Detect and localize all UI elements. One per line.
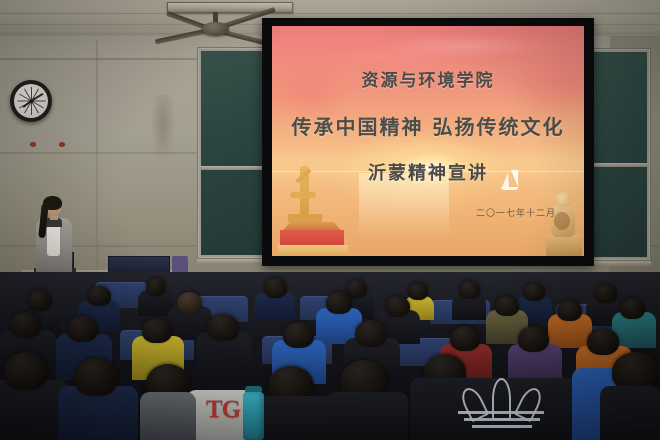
clock-face (14, 84, 48, 118)
audience-body (140, 392, 196, 440)
slide-sun-reflection (359, 173, 449, 256)
audience-head (10, 312, 41, 338)
audience-head (385, 296, 410, 317)
audience-head (495, 296, 519, 316)
audience-head (4, 352, 48, 390)
audience-head (146, 278, 166, 296)
audience-head (408, 283, 428, 300)
chalkboard-right (589, 48, 651, 261)
audience-body (326, 392, 408, 440)
chalkboard-left (197, 47, 269, 259)
audience-body (600, 386, 660, 440)
clock-center-pin (30, 100, 33, 103)
wall-fixture (30, 142, 36, 147)
audience-head (450, 326, 480, 351)
audience-head (67, 316, 98, 342)
audience-body (256, 396, 334, 440)
chalkboard-divider (201, 166, 265, 170)
chalkboard-divider (593, 163, 647, 167)
ceiling-fan-icon (202, 22, 229, 36)
audience-head (177, 292, 202, 313)
wall-stain (150, 95, 176, 165)
chalkboard-surface (593, 52, 647, 257)
audience-head (620, 298, 645, 319)
monument-icon (278, 166, 354, 256)
audience-head (587, 328, 619, 355)
audience-head (74, 358, 118, 396)
audience-head (459, 281, 480, 299)
wall-clock (10, 80, 52, 122)
wall-seam (96, 40, 98, 270)
wall-seam (0, 58, 200, 60)
adidas-trefoil-icon (452, 372, 558, 434)
audience-head (523, 283, 545, 301)
water-bottle (243, 392, 264, 440)
audience-head (518, 326, 549, 352)
ceiling-rib (0, 13, 660, 14)
projection-screen-frame: 资源与环境学院 传承中国精神 弘扬传统文化 沂蒙精神宣讲 二〇一七年十二月 (262, 18, 594, 266)
presenter (30, 198, 76, 278)
audience-head (27, 290, 52, 311)
wall-fixture (59, 142, 65, 147)
stone-lion-icon (542, 190, 584, 256)
audience-head (142, 318, 172, 343)
presenter-shirt (47, 224, 60, 256)
audience-head (355, 320, 387, 347)
audience-head (283, 322, 314, 348)
chalkboard-surface (201, 51, 265, 255)
audience-head (87, 286, 111, 306)
chalk-tray (197, 259, 269, 264)
audience-head (594, 284, 617, 303)
chalk-tray (589, 261, 651, 266)
audience-head (557, 300, 582, 321)
audience-head (264, 278, 287, 298)
sailboat-icon (500, 170, 520, 194)
projection-screen: 资源与环境学院 传承中国精神 弘扬传统文化 沂蒙精神宣讲 二〇一七年十二月 (272, 26, 584, 256)
audience-head (207, 314, 239, 341)
audience-head (326, 292, 352, 314)
lecture-hall-photo: 资源与环境学院 传承中国精神 弘扬传统文化 沂蒙精神宣讲 二〇一七年十二月 (0, 0, 660, 440)
